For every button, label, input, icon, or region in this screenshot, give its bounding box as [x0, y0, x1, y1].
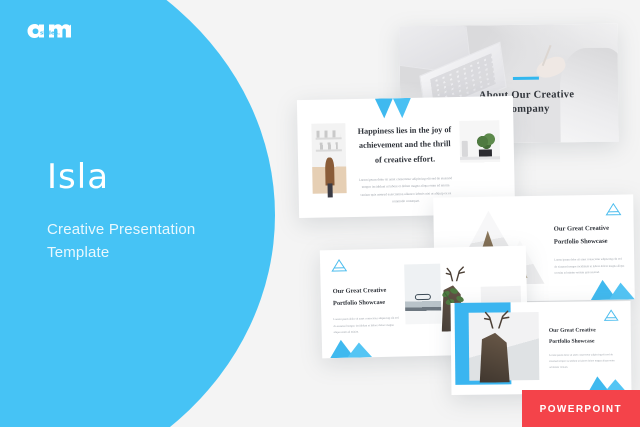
slide-text-block: Our Great Creative Portfolio Showcase Lo…	[333, 285, 400, 337]
slide-text-block: Our Great Creative Portfolio Showcase Lo…	[549, 325, 615, 371]
slide-body-text: Lorem ipsum dolor sit amet consectetur a…	[333, 316, 399, 337]
logo-subtext: slides.	[40, 31, 60, 37]
antler-shape	[483, 306, 511, 328]
page-title: Isla	[47, 160, 247, 196]
plant-shape	[474, 132, 496, 150]
shelf-shape	[316, 149, 342, 151]
shelf-shape	[316, 137, 342, 139]
hero-text-block: Isla Creative Presentation Template	[47, 160, 247, 264]
blue-divider-icon	[513, 77, 539, 80]
antler-shape	[444, 263, 466, 281]
portfolio-showcase-front-slide[interactable]: Our Great Creative Portfolio Showcase Lo…	[451, 301, 632, 395]
lamp-shape	[462, 141, 468, 157]
slide-text-block: Our Great Creative Portfolio Showcase Lo…	[554, 223, 625, 277]
status-badge-label: POWERPOINT	[540, 404, 622, 415]
slide-title: Happiness lies in the joy of achievement…	[355, 123, 454, 168]
am-slides-logo[interactable]: slides.	[22, 14, 82, 44]
slide-title: Our Great Creative Portfolio Showcase	[333, 285, 400, 311]
page-subtitle: Creative Presentation Template	[47, 218, 247, 265]
slide-text-block: Happiness lies in the joy of achievement…	[355, 123, 455, 206]
person-legs-shape	[327, 183, 332, 197]
gallery-photo	[311, 123, 346, 194]
slide-body-text: Lorem ipsum dolor sit amet consectetur a…	[554, 256, 624, 277]
double-triangle-down-icon	[375, 98, 411, 119]
slide-title: Our Great Creative Portfolio Showcase	[554, 223, 624, 249]
mountains-icon	[590, 277, 634, 300]
triangle-outline-icon	[604, 308, 619, 320]
triangle-outline-icon	[331, 259, 347, 272]
status-badge[interactable]: POWERPOINT	[522, 390, 640, 427]
person-shape	[325, 157, 335, 185]
glasses-icon	[415, 294, 431, 300]
slide-title: Our Great Creative Portfolio Showcase	[549, 325, 615, 347]
mountains-icon	[330, 337, 372, 358]
triangle-outline-icon	[605, 203, 621, 216]
slide-body-text: Lorem ipsum dolor sit amet consectetur a…	[549, 352, 615, 371]
